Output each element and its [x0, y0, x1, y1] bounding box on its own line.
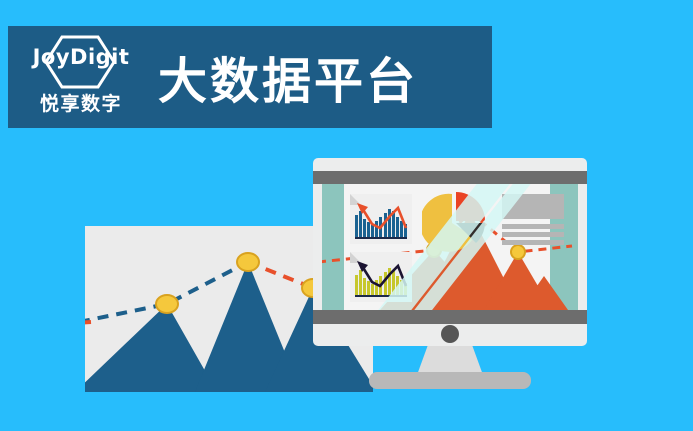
- brand-name: JoyDigit: [22, 45, 140, 69]
- brand-logo: JoyDigit 悦享数字: [22, 33, 140, 121]
- monitor-camera-icon: [441, 325, 459, 343]
- text-line: [502, 232, 564, 237]
- infographic-banner: JoyDigit 悦享数字 大数据平台: [0, 0, 693, 431]
- data-marker: [511, 245, 525, 259]
- text-line: [502, 224, 564, 229]
- mini-bar-chart-card-blue: [350, 194, 412, 244]
- data-marker: [237, 253, 259, 271]
- monitor-stand-base: [369, 372, 531, 389]
- page-title: 大数据平台: [158, 42, 418, 113]
- trend-line-tail-red: [85, 322, 91, 323]
- brand-subtitle: 悦享数字: [22, 89, 140, 116]
- monitor-bezel-bottom: [313, 310, 587, 324]
- monitor-bezel-top: [313, 171, 587, 184]
- arrow-head-up-left: [357, 261, 368, 272]
- monitor-stand-neck: [417, 346, 483, 375]
- data-marker: [156, 295, 178, 313]
- monitor-screen: [322, 184, 578, 310]
- arrow-head-up-left: [357, 203, 368, 214]
- text-line: [502, 240, 564, 245]
- header-banner: JoyDigit 悦享数字 大数据平台: [8, 26, 492, 128]
- desktop-monitor: [313, 158, 587, 346]
- chart-baseline: [355, 237, 407, 239]
